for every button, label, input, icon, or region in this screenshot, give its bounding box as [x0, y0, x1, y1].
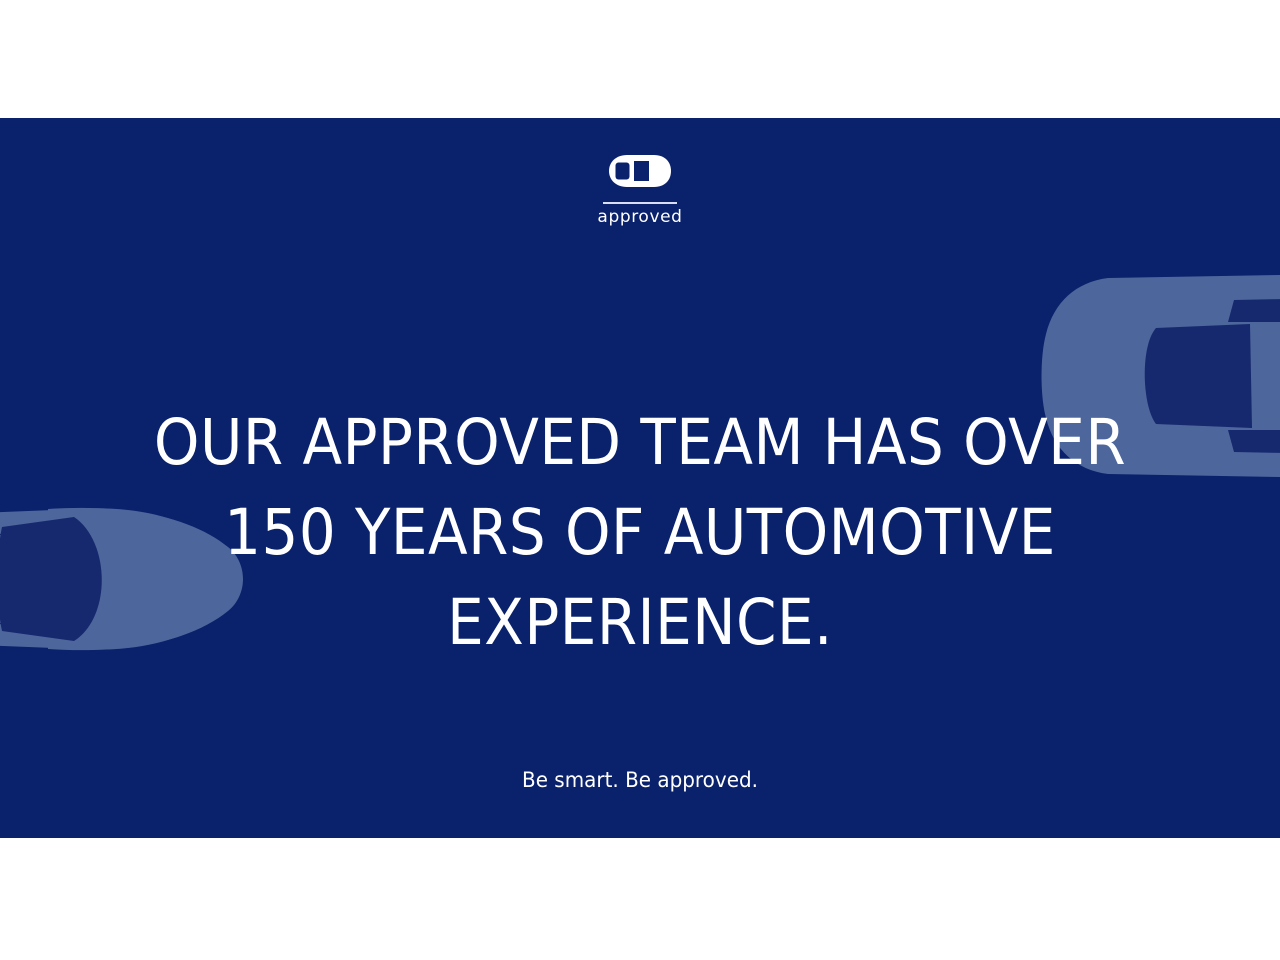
page-canvas: approved OUR APPROVED TEAM HAS OVER 150 … [0, 0, 1280, 960]
car-top-view-icon [607, 154, 673, 188]
brand-logo: approved [0, 154, 1280, 226]
brand-tagline: Be smart. Be approved. [32, 768, 1248, 792]
headline-line-3: EXPERIENCE. [51, 578, 1229, 668]
headline-line-1: OUR APPROVED TEAM HAS OVER [51, 398, 1229, 488]
logo-divider [603, 202, 677, 204]
page-title: OUR APPROVED TEAM HAS OVER 150 YEARS OF … [51, 398, 1229, 668]
logo-wordmark: approved [0, 208, 1280, 227]
hero-banner: approved OUR APPROVED TEAM HAS OVER 150 … [0, 118, 1280, 838]
headline-line-2: 150 YEARS OF AUTOMOTIVE [51, 488, 1229, 578]
